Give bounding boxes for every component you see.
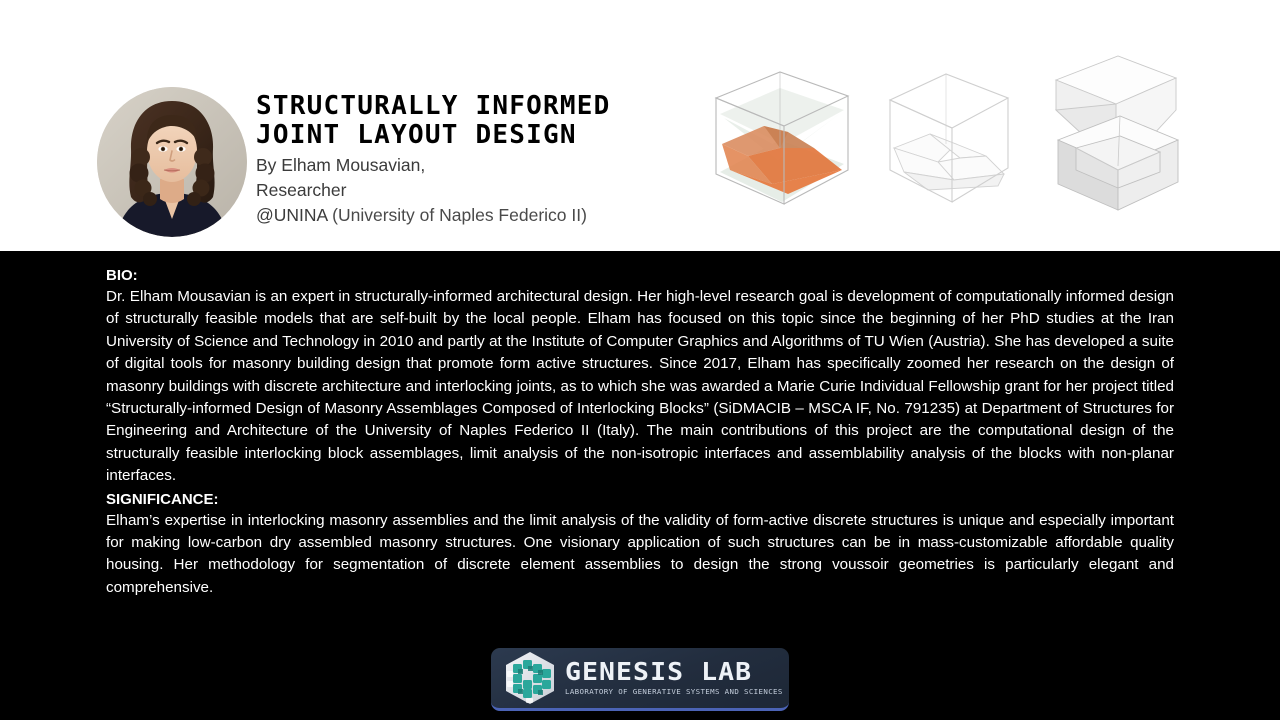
affiliation-handle: @UNINA	[256, 205, 332, 225]
bio-content: BIO: Dr. Elham Mousavian is an expert in…	[106, 265, 1174, 599]
avatar	[97, 87, 247, 237]
figure-orange-interface-in-transparent-box	[702, 52, 860, 224]
title-block: STRUCTURALLY INFORMED JOINT LAYOUT DESIG…	[256, 92, 696, 228]
significance-paragraph: Elham’s expertise in interlocking masonr…	[106, 510, 1174, 600]
bio-paragraph: Dr. Elham Mousavian is an expert in stru…	[106, 286, 1174, 488]
logo-title: GENESIS LAB	[565, 658, 789, 685]
logo-subtitle: LABORATORY OF GENERATIVE SYSTEMS AND SCI…	[565, 686, 783, 697]
figure-separated-interlocking-blocks	[1032, 48, 1190, 226]
genesis-lab-logo: GENESIS LAB LABORATORY OF GENERATIVE SYS…	[491, 648, 789, 711]
bio-heading: BIO:	[106, 265, 1174, 286]
byline-role: Researcher	[256, 178, 696, 203]
logo-text-block: GENESIS LAB LABORATORY OF GENERATIVE SYS…	[565, 658, 778, 699]
page-title-line-2: JOINT LAYOUT DESIGN	[256, 121, 705, 150]
affiliation-full: (University of Naples Federico II)	[332, 205, 587, 225]
header-banner: STRUCTURALLY INFORMED JOINT LAYOUT DESIG…	[0, 0, 1280, 251]
byline-affiliation: @UNINA (University of Naples Federico II…	[256, 203, 696, 228]
genesis-cube-icon	[499, 649, 561, 707]
byline-author: By Elham Mousavian,	[256, 153, 696, 178]
significance-heading: SIGNIFICANCE:	[106, 489, 1174, 510]
page-title-line-1: STRUCTURALLY INFORMED	[256, 92, 705, 121]
figure-white-interface-in-wireframe-box	[868, 52, 1026, 224]
portrait-photo	[97, 87, 247, 237]
